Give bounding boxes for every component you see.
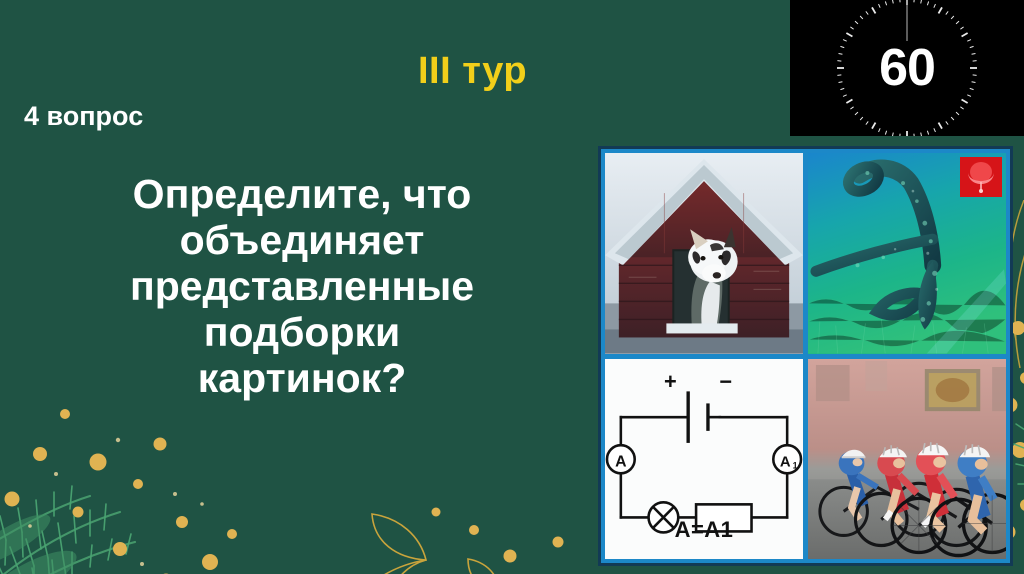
svg-text:A: A	[780, 453, 791, 470]
picture-grid: + − A A 1 A=A1	[598, 146, 1013, 566]
question-text: Определите, что объединяет представленны…	[22, 172, 582, 402]
countdown-timer-panel: 60	[790, 0, 1024, 136]
svg-text:1: 1	[793, 460, 798, 470]
gold-leaf-line-art-decoration	[300, 470, 600, 574]
timer-value: 60	[790, 38, 1024, 98]
electric-circuit-diagram: + − A A 1 A=A1	[605, 359, 803, 560]
svg-text:−: −	[719, 368, 732, 393]
underwater-anchor-photo	[808, 153, 1006, 354]
question-number-label: 4 вопрос	[24, 103, 143, 130]
dog-in-doghouse-photo	[605, 153, 803, 354]
svg-text:+: +	[664, 368, 677, 393]
red-flag-badge	[960, 157, 1002, 197]
circuit-equation-label: A=A1	[605, 517, 803, 543]
quiz-slide: III тур 4 вопрос Определите, что объедин…	[0, 0, 1024, 574]
svg-text:A: A	[615, 453, 627, 470]
cyclists-peloton-photo	[808, 359, 1006, 560]
round-title: III тур	[418, 52, 527, 90]
